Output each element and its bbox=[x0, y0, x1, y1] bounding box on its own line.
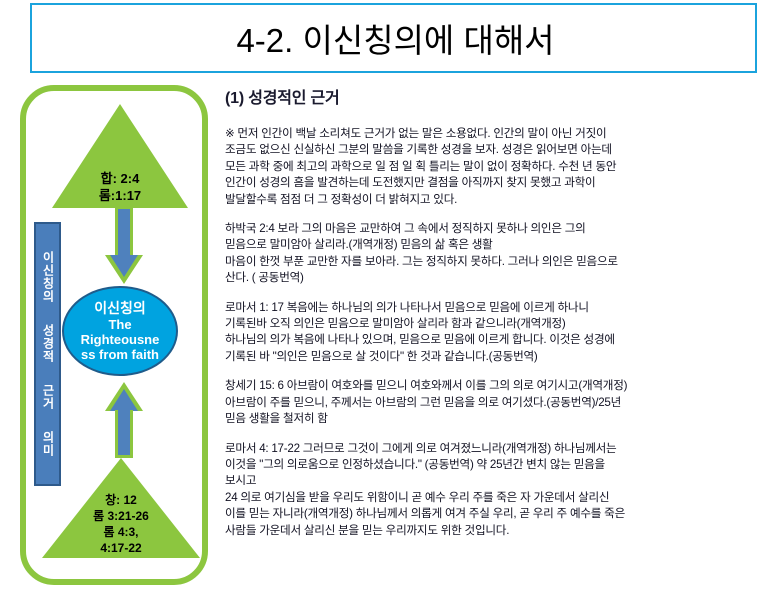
triangle-bottom-line-3: 롬 4:3, bbox=[42, 524, 200, 540]
diagram-triangle-top: 합: 2:4 롬:1:17 bbox=[52, 104, 188, 208]
center-circle-english-3: ss from faith bbox=[81, 347, 159, 362]
triangle-bottom-line-2: 롬 3:21-26 bbox=[42, 508, 200, 524]
body-paragraph-5: 로마서 4: 17-22 그러므로 그것이 그에게 의로 여겨졌느니라(개역개정… bbox=[225, 441, 770, 539]
arrow-down-icon bbox=[104, 206, 144, 284]
slide-title-box: 4-2. 이신칭의에 대해서 bbox=[30, 3, 757, 73]
content-heading: (1) 성경적인 근거 bbox=[225, 84, 770, 108]
page-title: 4-2. 이신칭의에 대해서 bbox=[32, 5, 759, 71]
center-circle-english-2: Righteousne bbox=[81, 332, 160, 347]
arrow-down-stem bbox=[115, 206, 133, 256]
triangle-top-label: 합: 2:4 롬:1:17 bbox=[52, 170, 188, 204]
body-paragraph-3: 로마서 1: 17 복음에는 하나님의 의가 나타나서 믿음으로 믿음에 이르게… bbox=[225, 300, 770, 366]
arrow-up-stem bbox=[115, 410, 133, 458]
diagram-vertical-label-bar: 이신칭의 성경적 근거 의미 bbox=[34, 222, 61, 486]
center-circle-english-1: The bbox=[108, 317, 131, 332]
vertical-bar-word-4: 의미 bbox=[41, 431, 54, 457]
vertical-bar-word-3: 근거 bbox=[41, 384, 54, 410]
content-area: (1) 성경적인 근거 ※ 먼저 인간이 백날 소리쳐도 근거가 없는 말은 소… bbox=[225, 84, 770, 539]
diagram-triangle-bottom: 창: 12 롬 3:21-26 롬 4:3, 4:17-22 bbox=[42, 458, 200, 558]
arrow-up-head-fill bbox=[110, 389, 138, 411]
center-circle-korean: 이신칭의 bbox=[94, 300, 146, 317]
triangle-bottom-line-1: 창: 12 bbox=[42, 492, 200, 508]
body-paragraph-1: ※ 먼저 인간이 백날 소리쳐도 근거가 없는 말은 소용없다. 인간의 말이 … bbox=[225, 126, 770, 208]
triangle-top-line-1: 합: 2:4 bbox=[52, 170, 188, 187]
body-paragraph-4: 창세기 15: 6 아브람이 여호와를 믿으니 여호와께서 이를 그의 의로 여… bbox=[225, 378, 770, 427]
body-paragraph-2: 하박국 2:4 보라 그의 마음은 교만하여 그 속에서 정직하지 못하나 의인… bbox=[225, 221, 770, 287]
arrow-up-icon bbox=[104, 382, 144, 458]
diagram-center-circle: 이신칭의 The Righteousne ss from faith bbox=[62, 286, 178, 376]
vertical-bar-word-2: 성경적 bbox=[41, 324, 54, 363]
triangle-top-line-2: 롬:1:17 bbox=[52, 187, 188, 204]
arrow-down-head-fill bbox=[110, 255, 138, 277]
slide-canvas: 4-2. 이신칭의에 대해서 합: 2:4 롬:1:17 이신칭의 The Ri… bbox=[0, 0, 776, 591]
triangle-bottom-label: 창: 12 롬 3:21-26 롬 4:3, 4:17-22 bbox=[42, 492, 200, 556]
vertical-bar-word-1: 이신칭의 bbox=[41, 251, 54, 303]
triangle-bottom-line-4: 4:17-22 bbox=[42, 540, 200, 556]
